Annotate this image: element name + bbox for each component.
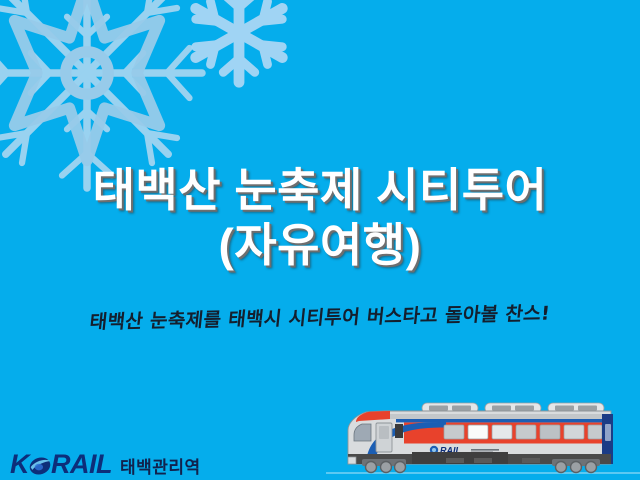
korail-wordmark: K RAIL	[10, 451, 112, 478]
title-line-1: 태백산 눈축제 시티투어	[0, 163, 640, 218]
passenger-windows	[444, 425, 602, 439]
poster-subtitle: 태백산 눈축제를 태백시 시티투어 버스타고 돌아볼 찬스!	[0, 297, 640, 336]
poster-canvas: 태백산 눈축제 시티투어 (자유여행) 태백산 눈축제를 태백시 시티투어 버스…	[0, 0, 640, 480]
roof-blue-stripe	[396, 419, 611, 422]
cab-side-panel	[395, 424, 403, 438]
snowflake-small-icon	[180, 0, 298, 92]
korail-swoosh-icon	[29, 455, 51, 477]
korail-letter-k: K	[10, 451, 29, 478]
korail-letters-rail: RAIL	[51, 451, 112, 478]
korail-train-illustration: RAIL	[326, 402, 640, 476]
title-line-2: (자유여행)	[0, 218, 640, 273]
station-name-label: 태백관리역	[120, 453, 201, 478]
korail-logo: K RAIL 태백관리역	[10, 451, 201, 478]
poster-title: 태백산 눈축제 시티투어 (자유여행)	[0, 163, 640, 273]
